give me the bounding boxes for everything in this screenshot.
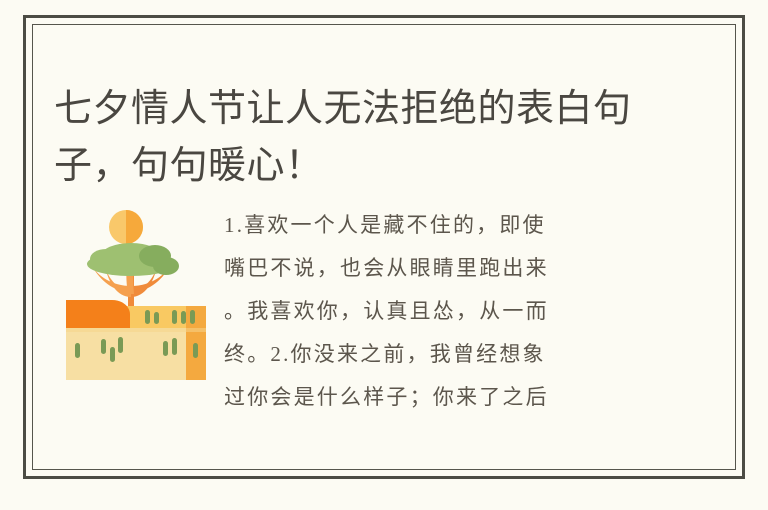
article-line: 终。2.你没来之前，我曾经想象 xyxy=(224,333,656,376)
page-root: 七夕情人节让人无法拒绝的表白句子，句句暖心！ xyxy=(0,0,768,510)
tree-canopy-icon xyxy=(87,243,179,276)
card-content: 七夕情人节让人无法拒绝的表白句子，句句暖心！ xyxy=(32,24,736,470)
article-line: 嘴巴不说，也会从眼睛里跑出来 xyxy=(224,247,656,290)
article-line: 1.喜欢一个人是藏不住的，即使 xyxy=(224,204,656,247)
article-body: 1.喜欢一个人是藏不住的，即使 嘴巴不说，也会从眼睛里跑出来 。我喜欢你，认真且… xyxy=(224,204,656,419)
sun-icon xyxy=(109,210,143,244)
page-title: 七夕情人节让人无法拒绝的表白句子，句句暖心！ xyxy=(54,81,674,195)
article-line: 。我喜欢你，认真且怂，从一而 xyxy=(224,290,656,333)
savanna-tree-scene-illustration xyxy=(60,202,212,382)
article-line: 过你会是什么样子；你来了之后 xyxy=(224,376,656,419)
